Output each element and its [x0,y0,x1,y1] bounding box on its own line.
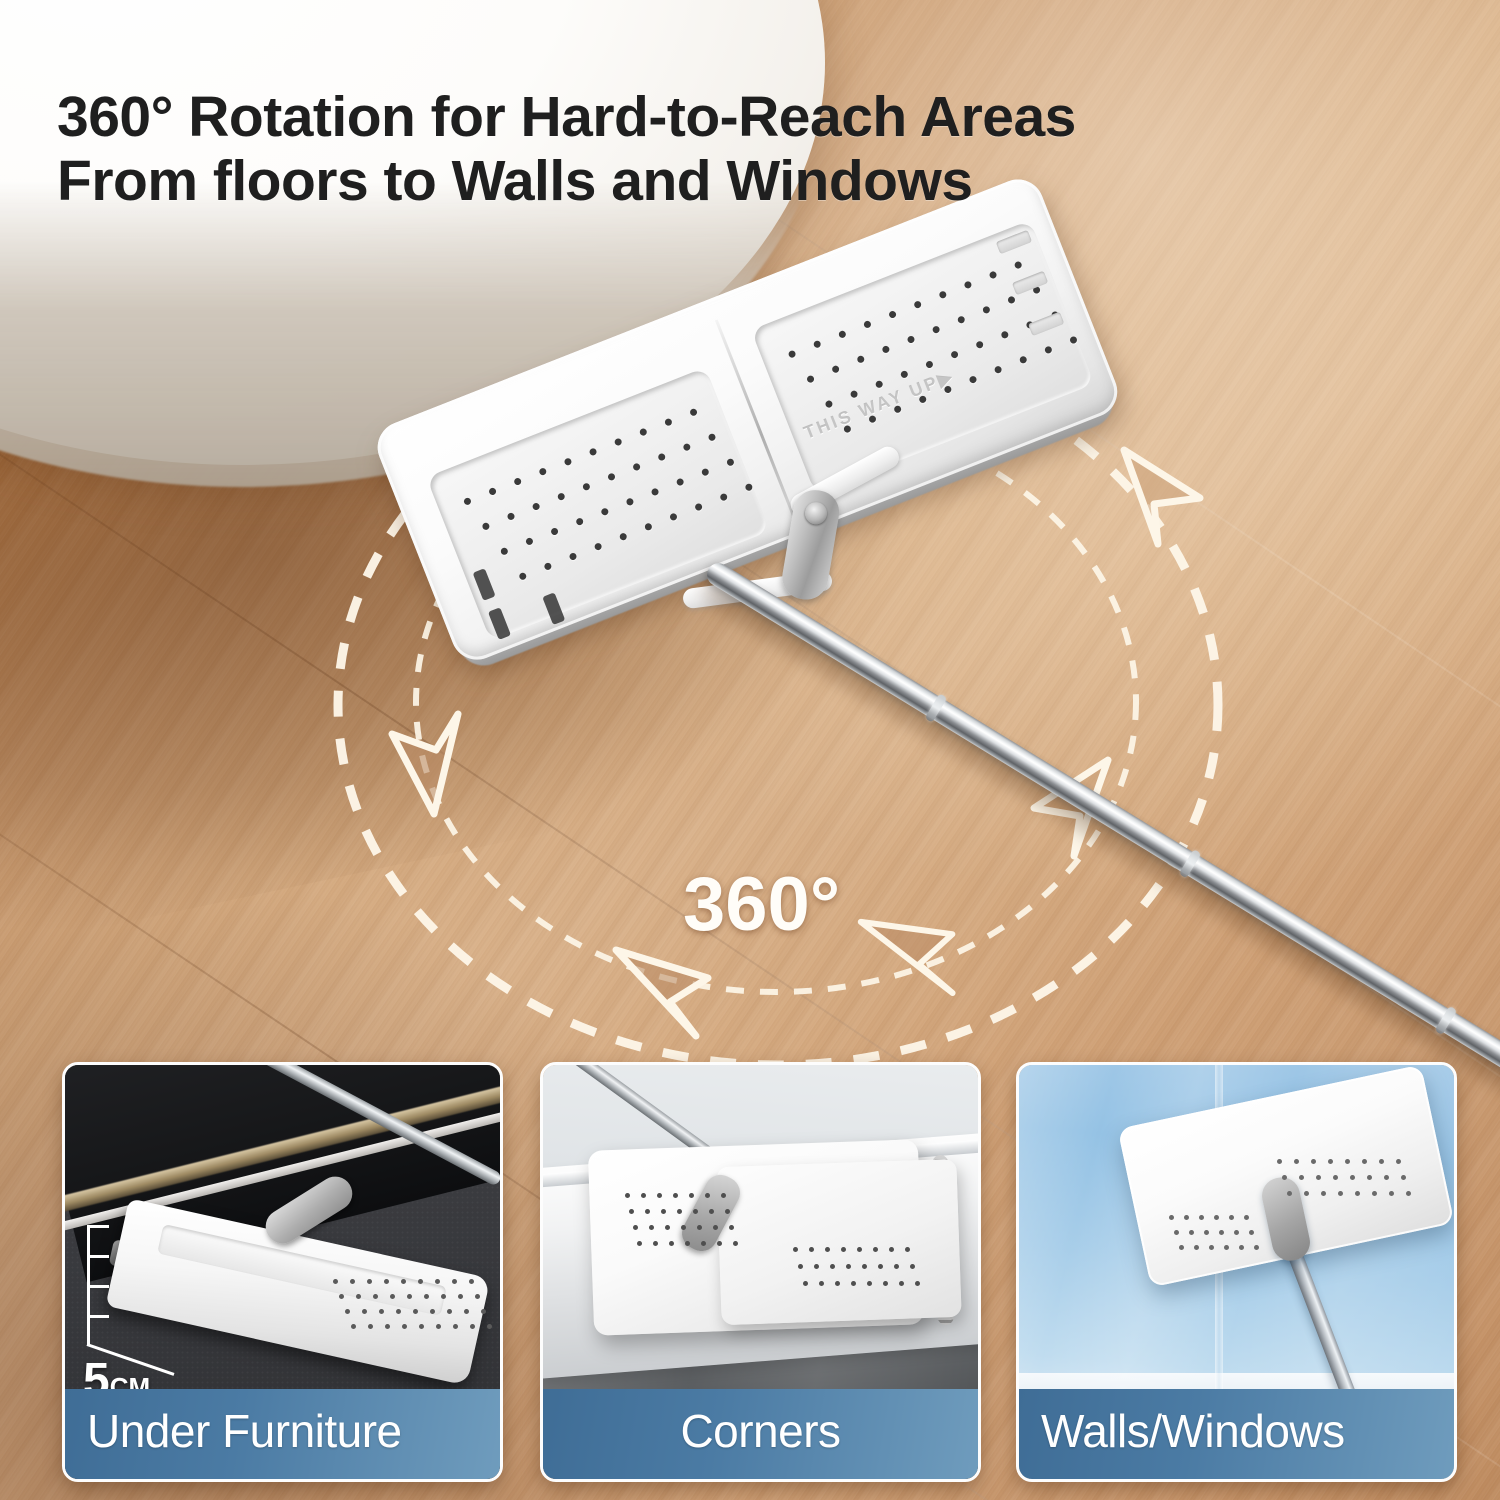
product-infographic: 360° THIS WAY UP▶ [0,0,1500,1500]
mop-product: THIS WAY UP▶ [390,270,1150,870]
ruler-tick [87,1255,109,1258]
page-title: 360° Rotation for Hard-to-Reach Areas Fr… [57,86,1477,214]
ruler-tick [87,1285,109,1288]
clearance-ruler [87,1225,135,1345]
headline-line-1: 360° Rotation for Hard-to-Reach Areas [57,85,1076,149]
feature-panel-corners[interactable]: Corners [540,1062,981,1482]
headline-line-2: From floors to Walls and Windows [57,150,1477,214]
ruler-tick [87,1225,109,1228]
feature-panel-under-furniture[interactable]: 5CM Under Furniture [62,1062,503,1482]
panel-caption-walls-windows: Walls/Windows [1019,1389,1454,1479]
panel2-mop-head-right [716,1159,961,1325]
rotation-degree-label: 360° [683,861,840,948]
feature-panel-walls-windows[interactable]: Walls/Windows [1016,1062,1457,1482]
panel-caption-under-furniture: Under Furniture [65,1389,500,1479]
ruler-tick [87,1315,109,1318]
panel-caption-corners: Corners [543,1389,978,1479]
